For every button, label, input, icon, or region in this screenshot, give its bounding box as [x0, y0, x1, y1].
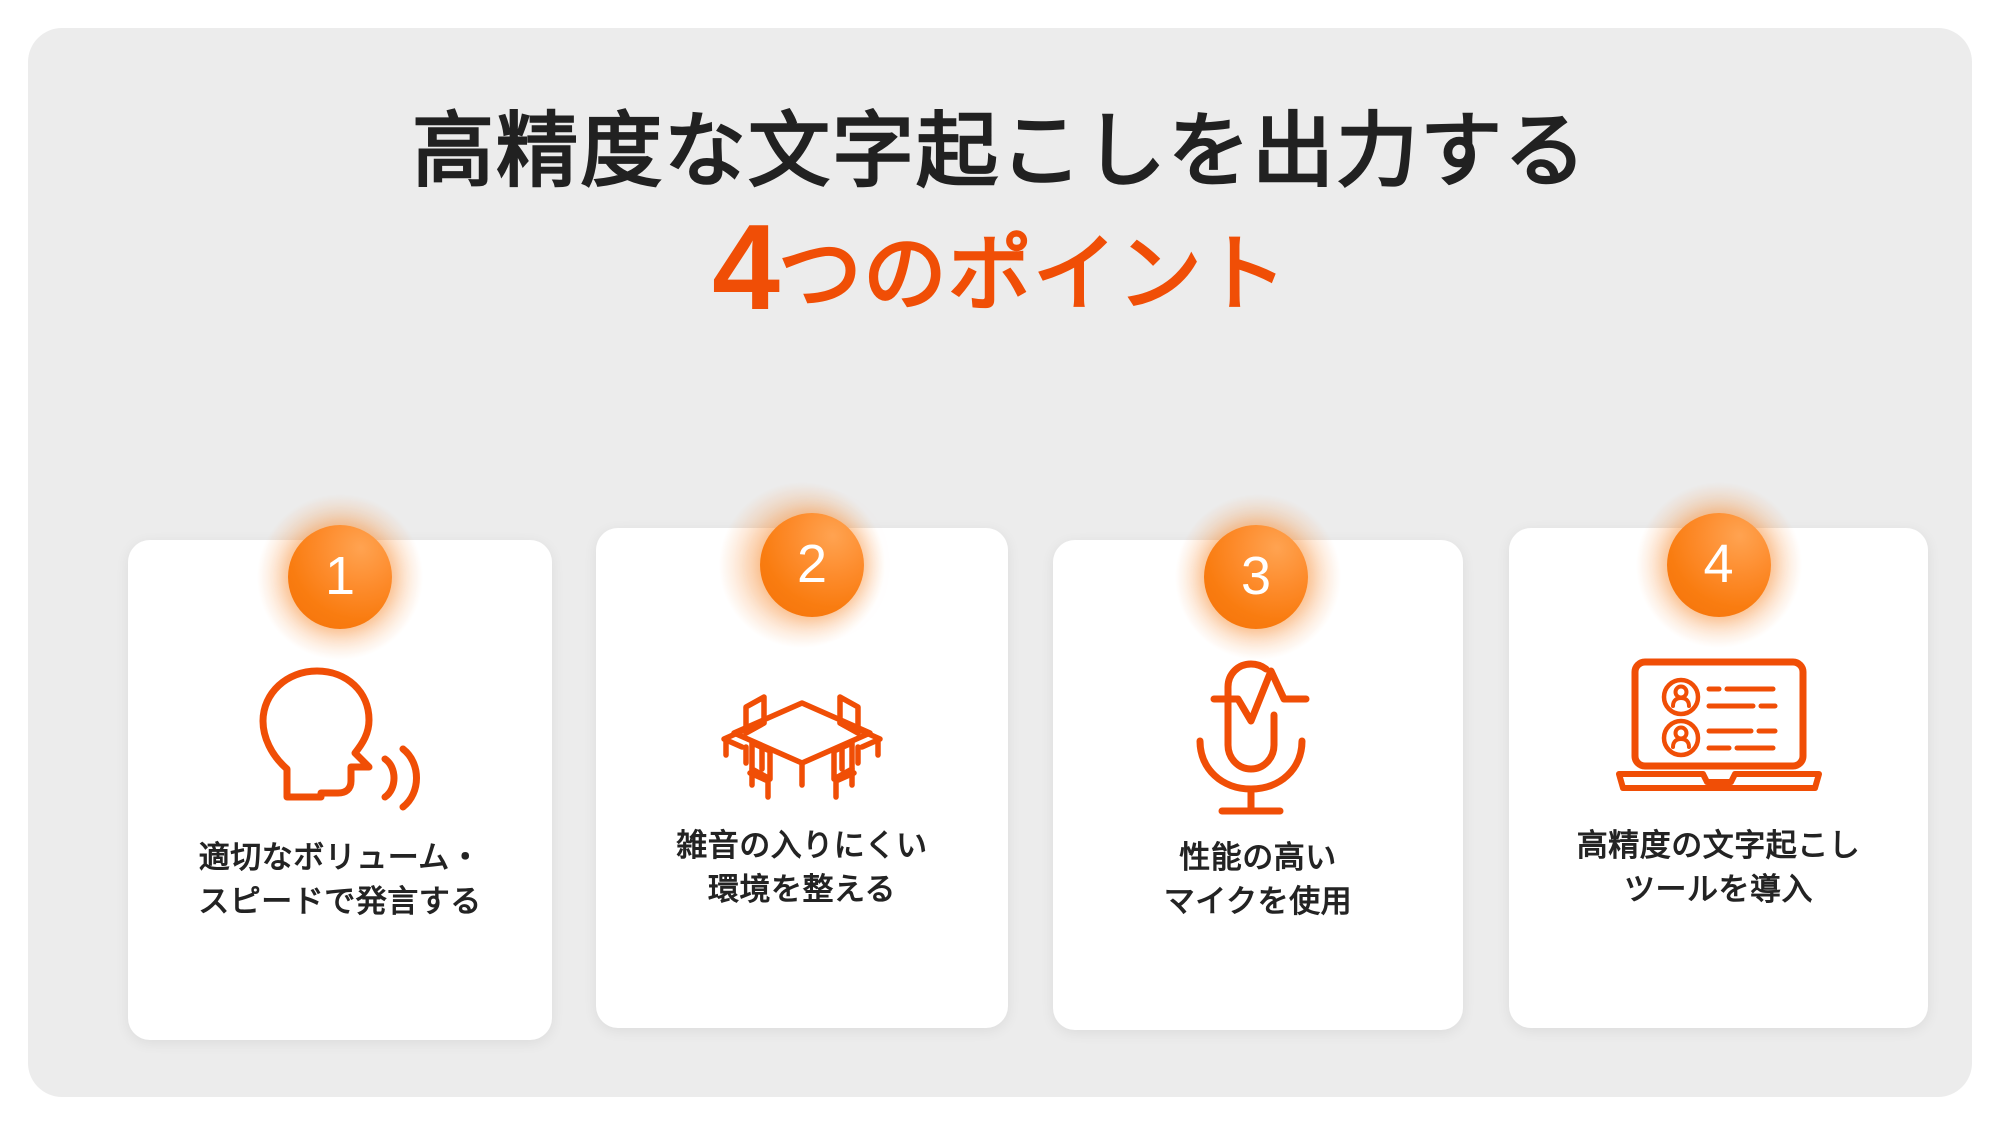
page-subtitle: 4つのポイント — [28, 206, 1972, 328]
caption-line-4a: 高精度の文字起こし — [1509, 824, 1928, 868]
step-number-badge-3: 3 — [1204, 525, 1308, 629]
badge-wrap-3: 3 — [1169, 488, 1347, 666]
step-number-label-1: 1 — [325, 549, 355, 606]
point-card-4[interactable]: 4 — [1509, 528, 1928, 1028]
card-caption-2: 雑音の入りにくい 環境を整える — [596, 824, 1008, 912]
caption-line-3b: マイクを使用 — [1053, 880, 1463, 924]
microphone-waveform-icon — [1053, 658, 1463, 818]
badge-glow-1 — [251, 488, 429, 666]
badge-wrap-2: 2 — [713, 476, 891, 654]
badge-glow-2 — [713, 476, 891, 654]
heading-block: 高精度な文字起こしを出力する 4つのポイント — [28, 106, 1972, 328]
card-row: 1 適切なボリューム・ スピードで発言する — [128, 528, 1928, 1058]
caption-line-2b: 環境を整える — [596, 868, 1008, 912]
speaking-head-icon — [128, 658, 552, 818]
content-panel: 高精度な文字起こしを出力する 4つのポイント 1 — [28, 28, 1972, 1097]
caption-line-1a: 適切なボリューム・ — [128, 836, 552, 880]
step-number-label-2: 2 — [797, 537, 827, 594]
card-caption-4: 高精度の文字起こし ツールを導入 — [1509, 824, 1928, 912]
badge-glow-3 — [1169, 488, 1347, 666]
caption-line-4b: ツールを導入 — [1509, 868, 1928, 912]
laptop-transcript-icon — [1509, 646, 1928, 806]
badge-wrap-4: 4 — [1630, 476, 1808, 654]
caption-line-1b: スピードで発言する — [128, 880, 552, 924]
caption-line-3a: 性能の高い — [1053, 836, 1463, 880]
caption-line-2a: 雑音の入りにくい — [596, 824, 1008, 868]
card-caption-1: 適切なボリューム・ スピードで発言する — [128, 836, 552, 924]
point-card-2[interactable]: 2 — [596, 528, 1008, 1028]
subtitle-number: 4 — [712, 199, 778, 335]
step-number-badge-2: 2 — [760, 513, 864, 617]
point-card-1[interactable]: 1 適切なボリューム・ スピードで発言する — [128, 540, 552, 1040]
step-number-label-3: 3 — [1241, 549, 1271, 606]
page-title: 高精度な文字起こしを出力する — [28, 106, 1972, 198]
step-number-badge-4: 4 — [1667, 513, 1771, 617]
badge-wrap-1: 1 — [251, 488, 429, 666]
subtitle-text: つのポイント — [778, 227, 1288, 321]
card-caption-3: 性能の高い マイクを使用 — [1053, 836, 1463, 924]
infographic-page: 高精度な文字起こしを出力する 4つのポイント 1 — [0, 0, 2000, 1125]
step-number-badge-1: 1 — [288, 525, 392, 629]
point-card-3[interactable]: 3 — [1053, 540, 1463, 1030]
meeting-table-chairs-icon — [596, 646, 1008, 806]
badge-glow-4 — [1630, 476, 1808, 654]
step-number-label-4: 4 — [1703, 537, 1733, 594]
